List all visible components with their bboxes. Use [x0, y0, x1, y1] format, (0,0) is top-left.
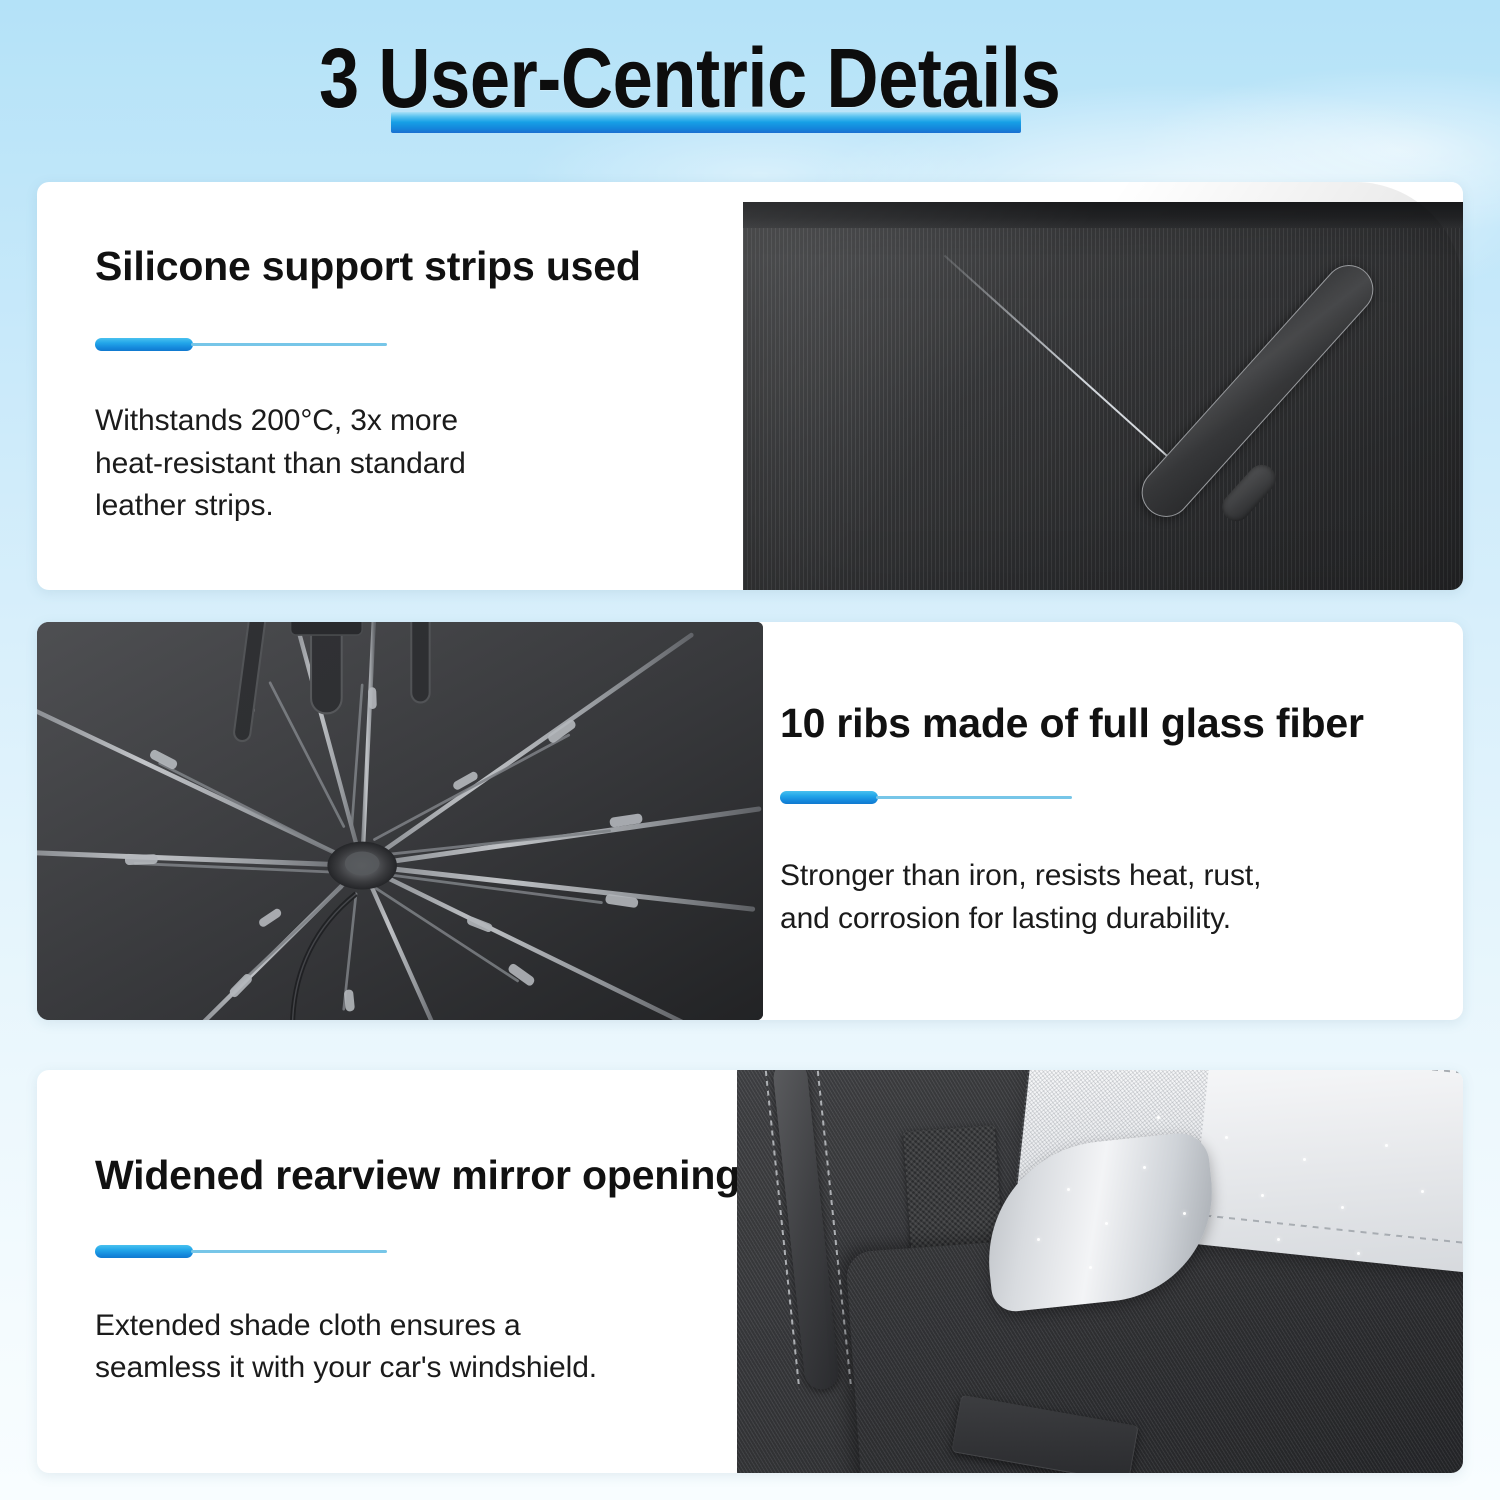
feature-image-silicone-strip	[737, 182, 1463, 590]
accent-bar-thin	[876, 796, 1072, 799]
page-title: 3 User-Centric Details	[319, 36, 1060, 120]
accent-bar-thick	[95, 338, 193, 351]
accent-bar-thick	[780, 791, 878, 804]
page-header: 3 User-Centric Details	[0, 0, 1500, 178]
feature-body-line: Extended shade cloth ensures a	[95, 1305, 737, 1348]
feature-image-umbrella-ribs	[37, 622, 763, 1020]
feature-body-line: seamless it with your car's windshield.	[95, 1347, 737, 1390]
feature-text-column: 10 ribs made of full glass fiber Stronge…	[763, 622, 1463, 1020]
feature-body-line: Withstands 200°C, 3x more	[95, 400, 737, 443]
accent-bar-thick	[95, 1245, 193, 1258]
sunshade-top-edge-binding	[743, 202, 1463, 228]
sunshade-corner-photo	[737, 182, 1463, 590]
feature-image-mirror-opening	[737, 1070, 1463, 1473]
page-title-group: 3 User-Centric Details	[319, 36, 1181, 120]
feature-body-line: leather strips.	[95, 485, 737, 528]
accent-divider	[95, 1243, 737, 1259]
feature-card-silicone-support-strips: Silicone support strips used Withstands …	[37, 182, 1463, 590]
feature-body: Extended shade cloth ensures a seamless …	[95, 1305, 737, 1390]
shade-cloth-photo	[737, 1070, 1463, 1473]
feature-body: Stronger than iron, resists heat, rust, …	[780, 855, 1463, 940]
feature-text-column: Widened rearview mirror opening Extended…	[37, 1070, 737, 1473]
feature-heading: Silicone support strips used	[95, 244, 737, 290]
accent-bar-thin	[191, 343, 387, 346]
feature-text-column: Silicone support strips used Withstands …	[37, 182, 737, 590]
accent-bar-thin	[191, 1250, 387, 1253]
velcro-patch	[903, 1125, 1003, 1253]
feature-heading: Widened rearview mirror opening	[95, 1153, 737, 1199]
ribs-diagram	[37, 622, 763, 1020]
accent-divider	[780, 789, 1463, 805]
feature-card-widened-rearview-mirror-opening: Widened rearview mirror opening Extended…	[37, 1070, 1463, 1473]
feature-body: Withstands 200°C, 3x more heat-resistant…	[95, 400, 737, 528]
feature-body-line: heat-resistant than standard	[95, 443, 737, 486]
feature-body-line: and corrosion for lasting durability.	[780, 898, 1463, 941]
feature-heading: 10 ribs made of full glass fiber	[780, 701, 1463, 747]
feature-body-line: Stronger than iron, resists heat, rust,	[780, 855, 1463, 898]
accent-divider	[95, 336, 737, 352]
feature-card-ten-glass-fiber-ribs: 10 ribs made of full glass fiber Stronge…	[37, 622, 1463, 1020]
umbrella-ribs-photo	[37, 622, 763, 1020]
